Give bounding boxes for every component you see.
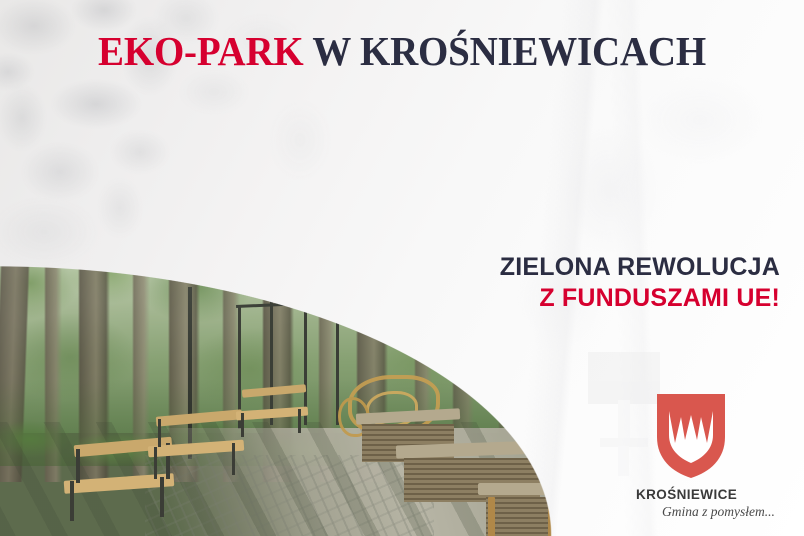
subtitle-line-1: ZIELONA REWOLUCJA <box>500 252 780 283</box>
title-highlight: EKO-PARK <box>98 28 303 74</box>
poster-canvas: EKO-PARK W KROŚNIEWICACH ZIELONA REWOLUC… <box>0 0 804 536</box>
page-title: EKO-PARK W KROŚNIEWICACH <box>20 28 784 74</box>
hero-photo <box>0 265 556 536</box>
ghost-board-stem <box>618 446 629 476</box>
subtitle-line-2: Z FUNDUSZAMI UE! <box>500 283 780 314</box>
ghost-board-neck <box>618 400 630 440</box>
logo-municipality-name: KROŚNIEWICE <box>632 487 782 503</box>
krosniewice-logo: KROŚNIEWICE Gmina z pomysłem... <box>632 391 782 520</box>
logo-tagline: Gmina z pomysłem... <box>632 503 782 520</box>
title-rest: W KROŚNIEWICACH <box>304 28 706 74</box>
subtitle-block: ZIELONA REWOLUCJA Z FUNDUSZAMI UE! <box>500 252 780 314</box>
park-photograph <box>0 265 556 536</box>
photo-light-veil <box>0 265 556 536</box>
krosniewice-coat-of-arms-shield-icon <box>654 391 728 481</box>
